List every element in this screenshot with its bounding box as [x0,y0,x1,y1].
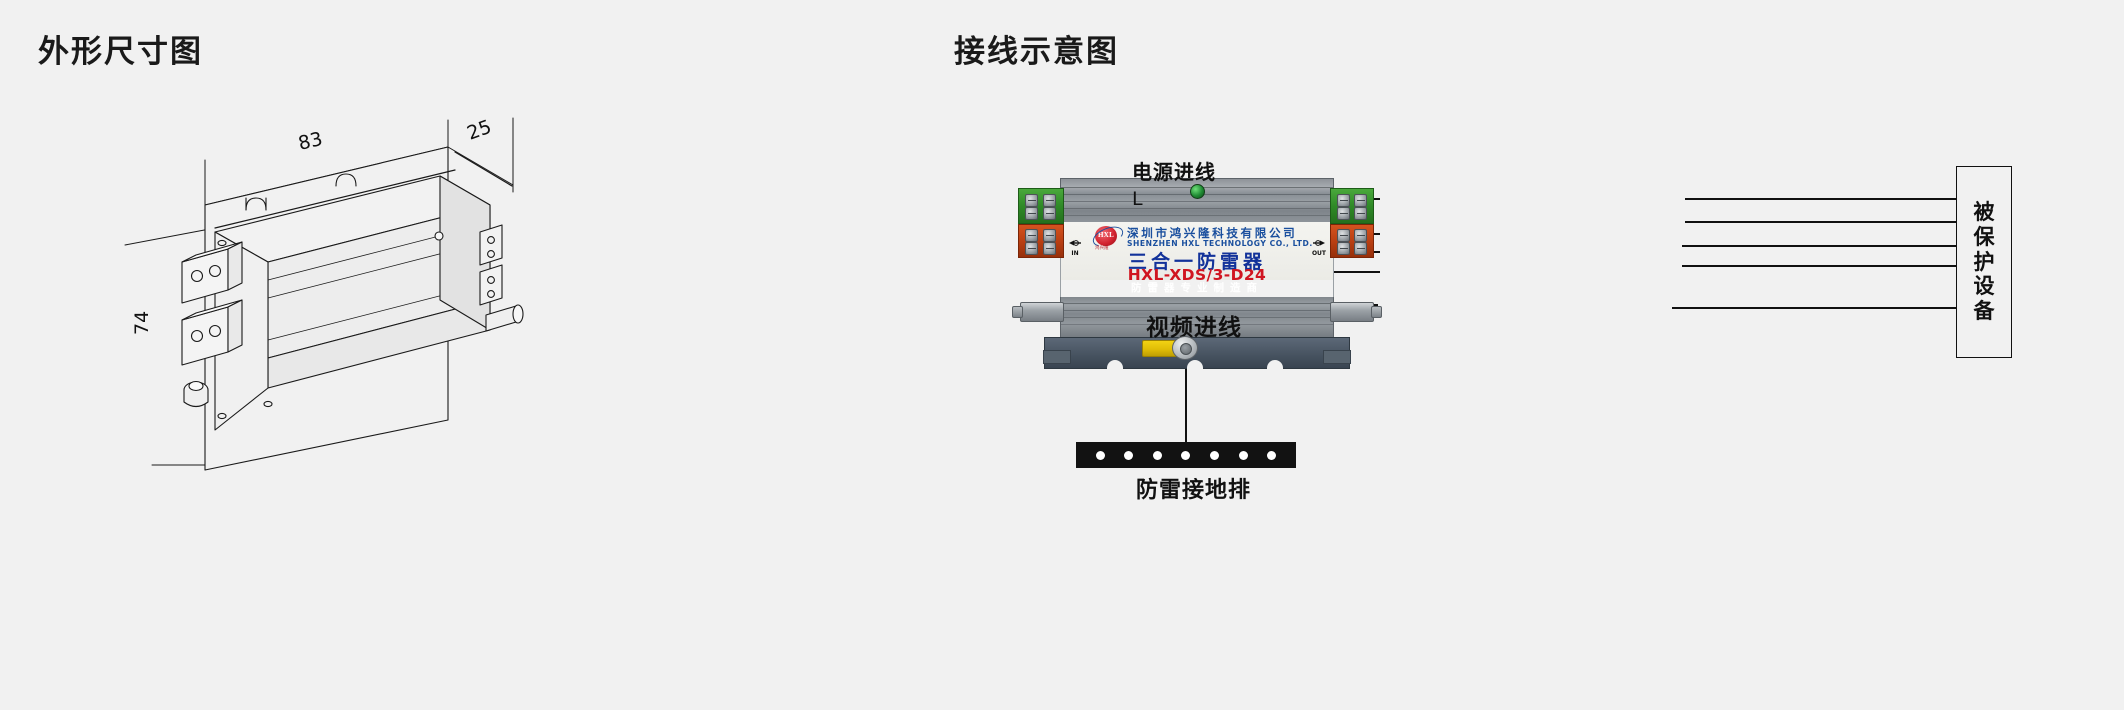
led-indicator [1190,184,1205,199]
ground-hole [1153,451,1162,460]
terminal-block-power-out [1330,188,1374,224]
ground-hole [1210,451,1219,460]
bnc-connector-right [486,305,523,331]
protected-char-0: 被 [1974,200,1995,225]
label-ground-bar: 防雷接地排 [1136,472,1251,504]
bnc-connector-left [184,382,208,407]
dimension-drawing-svg: 83 25 74 [0,0,940,710]
led-indicator-dim [435,232,443,240]
dimension-value-width: 83 [296,128,325,155]
ground-hole [1124,451,1133,460]
terminal-block-power-in [1018,188,1064,224]
brand-row: HXL 鸿兴隆 深圳市鸿兴隆科技有限公司 SHENZHEN HXL TECHNO… [1095,225,1329,249]
protected-char-4: 备 [1974,299,1995,324]
protected-char-3: 设 [1974,274,1995,299]
ground-screw [1172,336,1198,360]
ground-bar [1076,442,1296,468]
slogan-band: 防雷器专业制造商 [1060,280,1334,297]
wiring-diagram-panel: 接线示意图 [940,0,2124,710]
surge-protector-device: HXL 鸿兴隆 深圳市鸿兴隆科技有限公司 SHENZHEN HXL TECHNO… [1000,168,1390,388]
ground-hole [1096,451,1105,460]
dimension-value-depth: 25 [464,116,494,145]
ground-hole [1181,451,1190,460]
dimension-drawing-panel: 外形尺寸图 [0,0,940,710]
label-pin-L: L [1132,188,1143,210]
dimension-value-height: 74 [131,311,153,335]
protected-equipment-box: 被 保 护 设 备 [1956,166,2012,358]
bnc-video-in [1020,302,1064,322]
label-power-input: 电源进线 [1132,156,1216,185]
bnc-video-out [1330,302,1374,322]
ground-hole [1267,451,1276,460]
terminal-block-control-in [1018,224,1064,258]
device-face-plate: HXL 鸿兴隆 深圳市鸿兴隆科技有限公司 SHENZHEN HXL TECHNO… [1060,222,1334,280]
protected-char-2: 护 [1974,250,1995,275]
ground-hole [1239,451,1248,460]
label-video-input: 视频进线 [1146,308,1242,342]
protected-char-1: 保 [1974,225,1995,250]
output-wires [1672,199,1956,308]
terminal-block-control-out [1330,224,1374,258]
